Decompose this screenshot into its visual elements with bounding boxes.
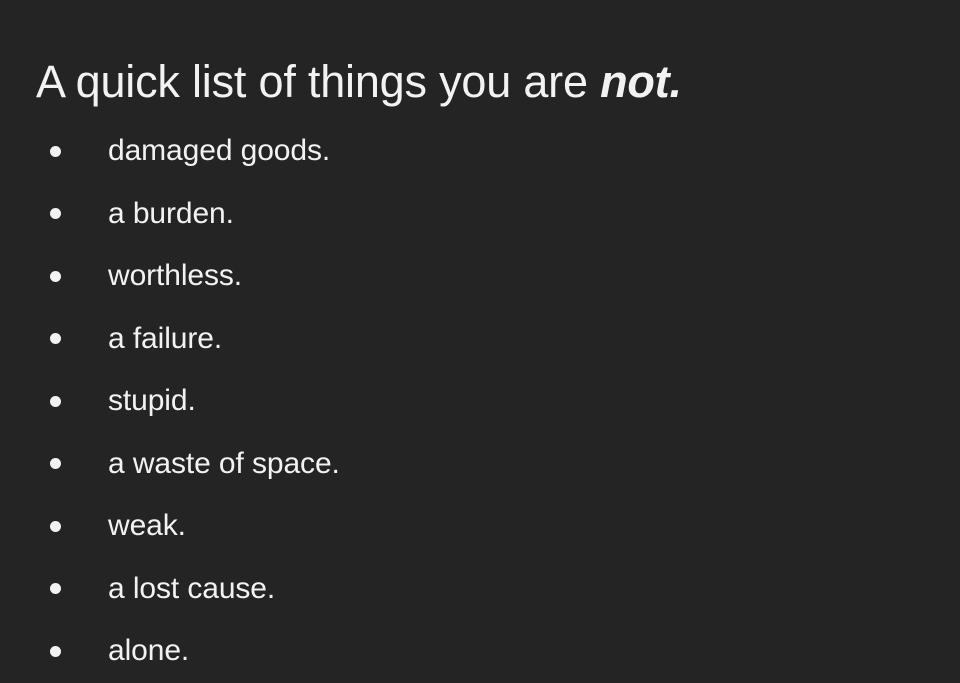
negation-list: damaged goods. a burden. worthless. a fa… [0,120,960,683]
list-item: weak. [0,495,960,558]
list-item: a failure. [0,308,960,371]
page-title-lead: A quick list of things you are [36,56,600,107]
bullet-dot-icon [50,396,61,407]
list-item-label: a burden. [108,197,234,231]
list-item-label: damaged goods. [108,134,330,168]
list-item: worthless. [0,245,960,308]
bullet-dot-icon [50,333,61,344]
bullet-dot-icon [50,646,61,657]
list-item-label: a lost cause. [108,572,275,606]
list-item-label: a waste of space. [108,447,340,481]
bullet-dot-icon [50,583,61,594]
page-title: A quick list of things you are not. [36,52,920,112]
bullet-dot-icon [50,521,61,532]
list-item: stupid. [0,370,960,433]
bullet-dot-icon [50,146,61,157]
list-item-label: alone. [108,634,189,668]
bullet-dot-icon [50,271,61,282]
list-item: damaged goods. [0,120,960,183]
list-item-label: a failure. [108,322,222,356]
slide-canvas: A quick list of things you are not. dama… [0,0,960,680]
list-item: alone. [0,620,960,683]
list-item: a lost cause. [0,558,960,621]
list-item: a waste of space. [0,433,960,496]
list-item-label: weak. [108,509,186,543]
bullet-dot-icon [50,208,61,219]
list-item: a burden. [0,183,960,246]
list-item-label: worthless. [108,259,242,293]
bullet-dot-icon [50,458,61,469]
page-title-emphasis: not. [600,56,682,107]
list-item-label: stupid. [108,384,196,418]
